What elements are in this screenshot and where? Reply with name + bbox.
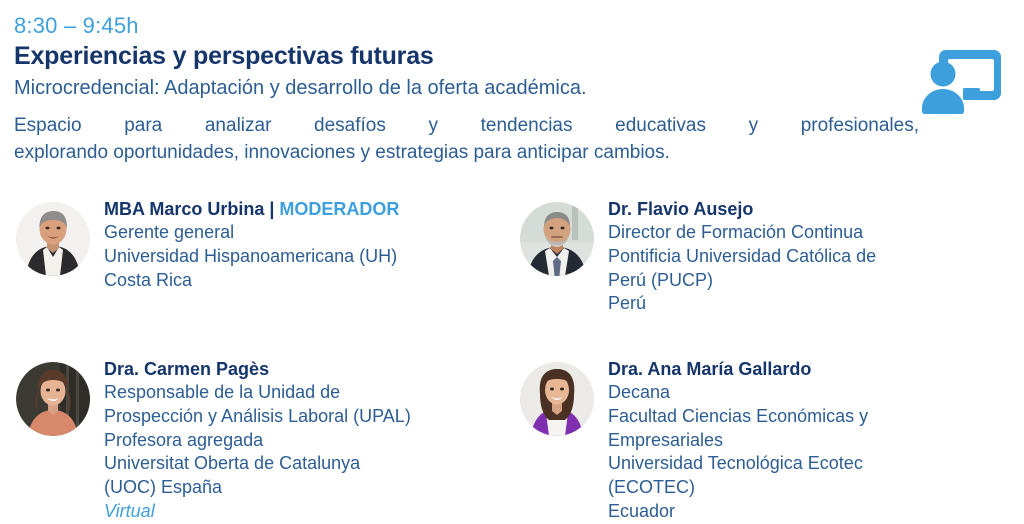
avatar [520,202,594,276]
session-slide: 8:30 – 9:45h Experiencias y perspectivas… [0,0,1024,518]
speaker-detail-line: Facultad Ciencias Económicas y [608,405,868,429]
speaker-info: MBA Marco Urbina | MODERADOR Gerente gen… [104,196,399,292]
speaker-detail-line: Costa Rica [104,269,399,293]
speaker-detail-line: Profesora agregada [104,429,411,453]
speaker-detail-line: Universidad Hispanoamericana (UH) [104,245,399,269]
presenter-screen-icon [918,48,1002,114]
speaker-info: Dr. Flavio Ausejo Director de Formación … [608,196,876,316]
speaker-name: Dra. Carmen Pagès [104,358,411,381]
speaker-detail-line: Decana [608,381,868,405]
speaker-name-text: MBA Marco Urbina [104,199,264,219]
speaker-detail-line: Empresariales [608,429,868,453]
speaker-card: Dra. Carmen Pagès Responsable de la Unid… [0,316,504,524]
speaker-detail-line: Pontificia Universidad Católica de [608,245,876,269]
session-title: Experiencias y perspectivas futuras [14,42,1024,71]
speaker-info: Dra. Carmen Pagès Responsable de la Unid… [104,356,411,524]
session-subtitle: Microcredencial: Adaptación y desarrollo… [14,76,1024,100]
speaker-card: Dr. Flavio Ausejo Director de Formación … [504,196,1008,316]
speaker-detail-line: (UOC) España [104,476,411,500]
session-description-line-2: explorando oportunidades, innovaciones y… [14,139,919,167]
speaker-detail-line: Gerente general [104,221,399,245]
speaker-role-separator: | [264,199,279,219]
speakers-grid: MBA Marco Urbina | MODERADOR Gerente gen… [0,196,1024,524]
avatar [16,362,90,436]
speaker-detail-line: Responsable de la Unidad de [104,381,411,405]
speaker-name-text: Dra. Ana María Gallardo [608,359,811,379]
session-time: 8:30 – 9:45h [14,14,1024,38]
speaker-detail-line: Perú [608,292,876,316]
speaker-name-text: Dr. Flavio Ausejo [608,199,753,219]
session-description-line-1: Espacio para analizar desafíos y tendenc… [14,112,919,140]
speaker-info: Dra. Ana María Gallardo Decana Facultad … [608,356,868,524]
avatar [520,362,594,436]
speaker-name-text: Dra. Carmen Pagès [104,359,269,379]
speaker-name: MBA Marco Urbina | MODERADOR [104,198,399,221]
speaker-card: Dra. Ana María Gallardo Decana Facultad … [504,316,1008,524]
speaker-virtual-label: Virtual [104,500,411,524]
speaker-detail-line: (ECOTEC) [608,476,868,500]
speaker-role-badge: MODERADOR [279,199,399,219]
speaker-name: Dr. Flavio Ausejo [608,198,876,221]
session-description: Espacio para analizar desafíos y tendenc… [14,112,919,167]
speaker-detail-line: Ecuador [608,500,868,524]
speaker-detail-line: Perú (PUCP) [608,269,876,293]
speaker-card: MBA Marco Urbina | MODERADOR Gerente gen… [0,196,504,316]
speaker-name: Dra. Ana María Gallardo [608,358,868,381]
speaker-detail-line: Universidad Tecnológica Ecotec [608,452,868,476]
speaker-detail-line: Director de Formación Continua [608,221,876,245]
speaker-detail-line: Universitat Oberta de Catalunya [104,452,411,476]
speaker-detail-line: Prospección y Análisis Laboral (UPAL) [104,405,411,429]
session-header: 8:30 – 9:45h Experiencias y perspectivas… [0,0,1024,167]
avatar [16,202,90,276]
